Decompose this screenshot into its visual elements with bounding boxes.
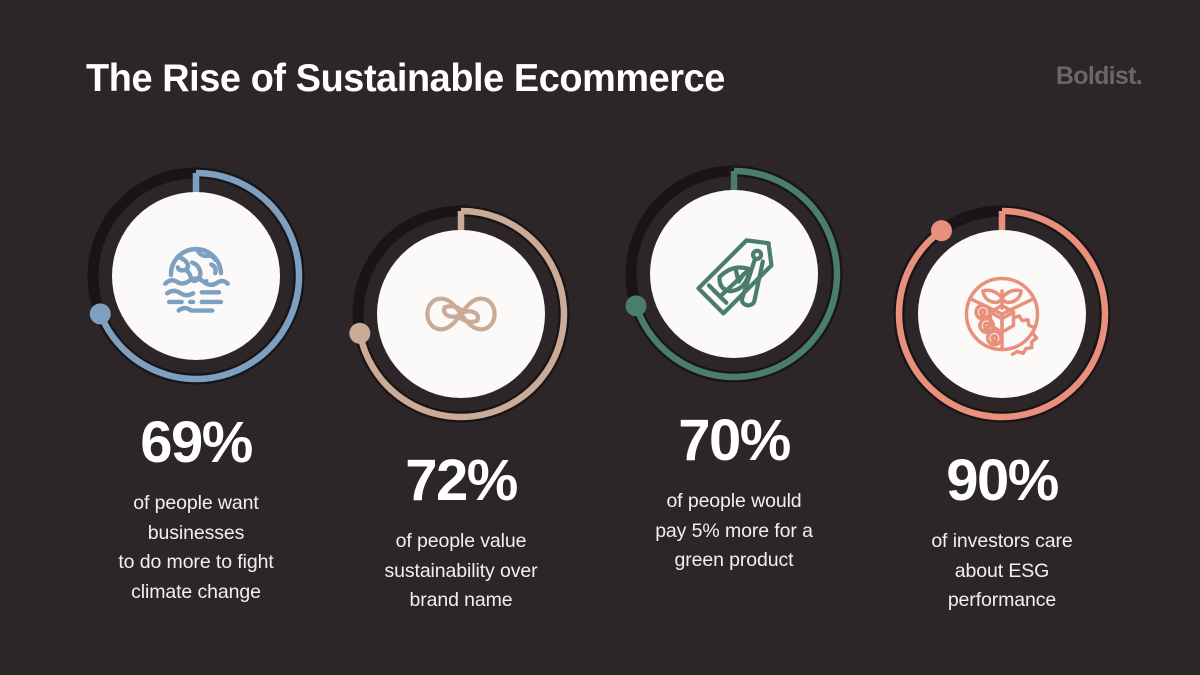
progress-ring-3 [618, 158, 850, 390]
stat-desc-line: green product [600, 546, 868, 576]
stat-card-2: 72% of people value sustainability over … [327, 198, 595, 616]
melting-globe-icon [148, 228, 244, 324]
stat-desc-line: performance [868, 586, 1136, 616]
stat-desc-line: about ESG [868, 557, 1136, 587]
stat-desc-line: of people want [62, 489, 330, 519]
stat-desc-line: to do more to fight [62, 548, 330, 578]
stat-value-1: 69% [62, 414, 330, 472]
progress-ring-2 [345, 198, 577, 430]
stat-desc-line: sustainability over [327, 557, 595, 587]
stat-card-3: 70% of people would pay 5% more for a gr… [600, 158, 868, 576]
stat-value-4: 90% [868, 452, 1136, 510]
brand-logo: Boldist. [1056, 62, 1142, 91]
icon-disc-2 [377, 230, 545, 398]
stat-description-4: of investors care about ESG performance [868, 527, 1136, 616]
stat-desc-line: brand name [327, 586, 595, 616]
eco-price-tag-icon [686, 226, 782, 322]
ring-end-dot-3 [626, 295, 647, 316]
progress-ring-4 [886, 198, 1118, 430]
stat-description-2: of people value sustainability over bran… [327, 527, 595, 616]
stat-value-3: 70% [600, 412, 868, 470]
stat-description-3: of people would pay 5% more for a green … [600, 487, 868, 576]
stat-description-1: of people want businesses to do more to … [62, 489, 330, 608]
stat-card-4: 90% of investors care about ESG performa… [868, 198, 1136, 616]
stat-desc-line: of people would [600, 487, 868, 517]
stat-desc-line: of investors care [868, 527, 1136, 557]
stat-value-2: 72% [327, 452, 595, 510]
page-title: The Rise of Sustainable Ecommerce [86, 58, 725, 101]
progress-ring-1 [80, 160, 312, 392]
stat-card-1: 69% of people want businesses to do more… [62, 160, 330, 608]
icon-disc-1 [112, 192, 280, 360]
stat-desc-line: pay 5% more for a [600, 517, 868, 547]
stat-desc-line: businesses [62, 519, 330, 549]
infinity-leaf-icon [413, 266, 509, 362]
icon-disc-3 [650, 190, 818, 358]
stat-desc-line: climate change [62, 578, 330, 608]
icon-disc-4 [918, 230, 1086, 398]
infographic-canvas: The Rise of Sustainable Ecommerce Boldis… [0, 0, 1200, 675]
stat-desc-line: of people value [327, 527, 595, 557]
ring-end-dot-4 [931, 220, 952, 241]
ring-end-dot-2 [349, 323, 370, 344]
esg-wheel-icon [954, 266, 1050, 362]
ring-end-dot-1 [90, 303, 111, 324]
